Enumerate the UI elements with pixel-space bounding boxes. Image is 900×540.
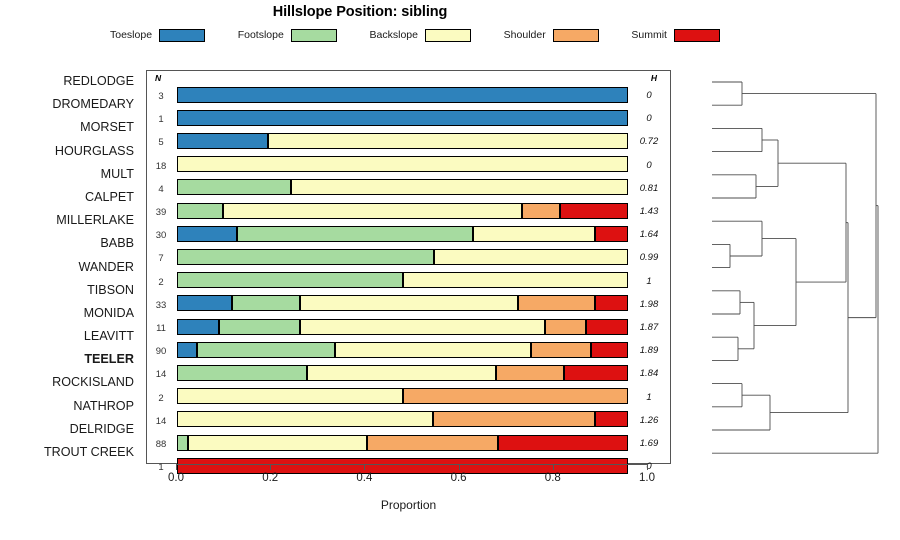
x-tick-label: 0.8 <box>533 472 573 484</box>
h-value: 0.72 <box>628 129 670 152</box>
bar-segment-shoulder <box>545 319 587 335</box>
x-tick <box>647 464 648 470</box>
table-row: 141.84 <box>147 361 670 384</box>
row-label: TIBSON <box>0 279 140 302</box>
legend-swatch-shoulder <box>553 29 599 42</box>
bar-segment-backslope <box>177 411 433 427</box>
x-tick-label: 0.6 <box>439 472 479 484</box>
row-label: MONIDA <box>0 302 140 325</box>
bar-segment-toeslope <box>177 110 628 126</box>
stacked-bar <box>177 411 628 427</box>
n-column-header: N <box>155 73 161 83</box>
legend-swatch-backslope <box>425 29 471 42</box>
legend-item-summit: Summit <box>631 29 720 42</box>
n-value: 5 <box>147 129 175 152</box>
row-label: WANDER <box>0 256 140 279</box>
bar-segment-shoulder <box>367 435 497 451</box>
stacked-bar <box>177 226 628 242</box>
bar-segment-backslope <box>335 342 531 358</box>
legend-label: Backslope <box>370 29 418 41</box>
row-label: HOURGLASS <box>0 140 140 163</box>
bar-segment-footslope <box>232 295 300 311</box>
bar-segment-shoulder <box>522 203 559 219</box>
row-label-column: REDLODGEDROMEDARYMORSETHOURGLASSMULTCALP… <box>0 70 140 464</box>
x-tick-label: 0.0 <box>156 472 196 484</box>
table-row: 111.87 <box>147 315 670 338</box>
stacked-bar <box>177 365 628 381</box>
bar-segment-footslope <box>177 435 188 451</box>
n-value: 33 <box>147 292 175 315</box>
n-value: 11 <box>147 315 175 338</box>
row-label: TROUT CREEK <box>0 441 140 464</box>
table-row: 391.43 <box>147 199 670 222</box>
h-value: 1.89 <box>628 338 670 361</box>
legend-item-footslope: Footslope <box>238 29 337 42</box>
h-value: 1.43 <box>628 199 670 222</box>
n-value: 3 <box>147 83 175 106</box>
bar-segment-backslope <box>188 435 367 451</box>
page-title: Hillslope Position: sibling <box>0 4 720 20</box>
bar-segment-summit <box>595 295 628 311</box>
legend-item-backslope: Backslope <box>370 29 471 42</box>
bar-segment-summit <box>586 319 628 335</box>
table-row: 180 <box>147 153 670 176</box>
bar-segment-summit <box>595 411 628 427</box>
bar-segment-backslope <box>300 319 545 335</box>
h-value: 0 <box>628 153 670 176</box>
bar-segment-summit <box>498 435 628 451</box>
bar-segment-summit <box>564 365 628 381</box>
x-tick <box>459 464 460 470</box>
stacked-bar <box>177 87 628 103</box>
row-label: ROCKISLAND <box>0 371 140 394</box>
row-label: NATHROP <box>0 395 140 418</box>
x-tick <box>176 464 177 470</box>
h-value: 0 <box>628 106 670 129</box>
bar-segment-toeslope <box>177 226 237 242</box>
bar-segment-footslope <box>197 342 336 358</box>
bar-segment-backslope <box>307 365 495 381</box>
bar-segment-footslope <box>237 226 474 242</box>
bar-segment-footslope <box>177 249 434 265</box>
h-value: 1 <box>628 269 670 292</box>
n-value: 30 <box>147 222 175 245</box>
dendrogram <box>690 60 900 480</box>
n-value: 39 <box>147 199 175 222</box>
n-value: 90 <box>147 338 175 361</box>
bar-segment-backslope <box>473 226 595 242</box>
bar-segment-summit <box>591 342 628 358</box>
bar-segment-shoulder <box>531 342 590 358</box>
x-tick <box>270 464 271 470</box>
h-value: 0 <box>628 83 670 106</box>
legend: ToeslopeFootslopeBackslopeShoulderSummit <box>110 26 720 44</box>
bar-segment-backslope <box>223 203 522 219</box>
bar-segment-backslope <box>434 249 628 265</box>
stacked-bar <box>177 249 628 265</box>
n-value: 88 <box>147 431 175 454</box>
table-row: 21 <box>147 385 670 408</box>
bar-segment-backslope <box>268 133 628 149</box>
chart-canvas: Hillslope Position: sibling ToeslopeFoot… <box>0 0 900 540</box>
bar-segment-toeslope <box>177 319 219 335</box>
bar-segment-footslope <box>177 272 403 288</box>
table-row: 40.81 <box>147 176 670 199</box>
n-value: 1 <box>147 106 175 129</box>
x-tick <box>553 464 554 470</box>
table-row: 70.99 <box>147 245 670 268</box>
h-value: 1.26 <box>628 408 670 431</box>
x-axis: 0.00.20.40.60.81.0 <box>176 464 647 465</box>
stacked-bar-panel: N H 301050.7218040.81391.43301.6470.9921… <box>146 70 671 464</box>
h-value: 0.99 <box>628 245 670 268</box>
bar-segment-toeslope <box>177 133 268 149</box>
x-tick <box>364 464 365 470</box>
stacked-bar <box>177 179 628 195</box>
h-value: 1.69 <box>628 431 670 454</box>
h-value: 1.64 <box>628 222 670 245</box>
n-value: 18 <box>147 153 175 176</box>
stacked-bar <box>177 295 628 311</box>
bar-segment-backslope <box>177 388 403 404</box>
row-label: TEELER <box>0 348 140 371</box>
table-row: 30 <box>147 83 670 106</box>
bar-segment-summit <box>560 203 628 219</box>
table-row: 10 <box>147 454 670 477</box>
row-label: CALPET <box>0 186 140 209</box>
bar-segment-shoulder <box>496 365 564 381</box>
table-row: 301.64 <box>147 222 670 245</box>
n-value: 7 <box>147 245 175 268</box>
x-tick-label: 1.0 <box>627 472 667 484</box>
h-value: 1.87 <box>628 315 670 338</box>
row-label: MORSET <box>0 116 140 139</box>
bar-segment-toeslope <box>177 87 628 103</box>
table-row: 21 <box>147 269 670 292</box>
table-row: 881.69 <box>147 431 670 454</box>
h-value: 1.84 <box>628 361 670 384</box>
stacked-bar <box>177 110 628 126</box>
h-column-header: H <box>651 73 657 83</box>
h-value: 0.81 <box>628 176 670 199</box>
bar-segment-footslope <box>219 319 300 335</box>
bar-segment-footslope <box>177 179 291 195</box>
stacked-bar <box>177 156 628 172</box>
n-value: 2 <box>147 385 175 408</box>
stacked-bar <box>177 388 628 404</box>
n-value: 14 <box>147 361 175 384</box>
stacked-bar <box>177 342 628 358</box>
bar-segment-summit <box>595 226 628 242</box>
legend-item-toeslope: Toeslope <box>110 29 205 42</box>
stacked-bar <box>177 203 628 219</box>
legend-swatch-footslope <box>291 29 337 42</box>
bar-segment-footslope <box>177 203 223 219</box>
bar-segment-toeslope <box>177 342 197 358</box>
h-value: 1 <box>628 385 670 408</box>
table-row: 141.26 <box>147 408 670 431</box>
n-value: 4 <box>147 176 175 199</box>
row-label: DELRIDGE <box>0 418 140 441</box>
x-axis-label: Proportion <box>146 498 671 512</box>
bar-segment-backslope <box>291 179 628 195</box>
row-label: MULT <box>0 163 140 186</box>
bar-segment-backslope <box>403 272 629 288</box>
bar-segment-shoulder <box>433 411 595 427</box>
row-label: REDLODGE <box>0 70 140 93</box>
row-label: BABB <box>0 232 140 255</box>
stacked-bar <box>177 133 628 149</box>
x-tick-label: 0.4 <box>344 472 384 484</box>
bar-segment-footslope <box>177 365 307 381</box>
stacked-bar <box>177 435 628 451</box>
legend-label: Summit <box>631 29 667 41</box>
table-row: 331.98 <box>147 292 670 315</box>
legend-label: Shoulder <box>504 29 546 41</box>
bar-segment-backslope <box>300 295 518 311</box>
legend-label: Footslope <box>238 29 284 41</box>
stacked-bar <box>177 319 628 335</box>
row-label: DROMEDARY <box>0 93 140 116</box>
n-value: 2 <box>147 269 175 292</box>
h-value: 1.98 <box>628 292 670 315</box>
bar-segment-backslope <box>177 156 628 172</box>
row-label: MILLERLAKE <box>0 209 140 232</box>
bar-segment-shoulder <box>403 388 629 404</box>
row-label: LEAVITT <box>0 325 140 348</box>
legend-swatch-summit <box>674 29 720 42</box>
legend-label: Toeslope <box>110 29 152 41</box>
n-value: 14 <box>147 408 175 431</box>
x-tick-label: 0.2 <box>250 472 290 484</box>
table-row: 10 <box>147 106 670 129</box>
table-row: 50.72 <box>147 129 670 152</box>
table-row: 901.89 <box>147 338 670 361</box>
bar-segment-toeslope <box>177 295 232 311</box>
legend-item-shoulder: Shoulder <box>504 29 599 42</box>
legend-swatch-toeslope <box>159 29 205 42</box>
bar-segment-shoulder <box>518 295 595 311</box>
stacked-bar <box>177 272 628 288</box>
